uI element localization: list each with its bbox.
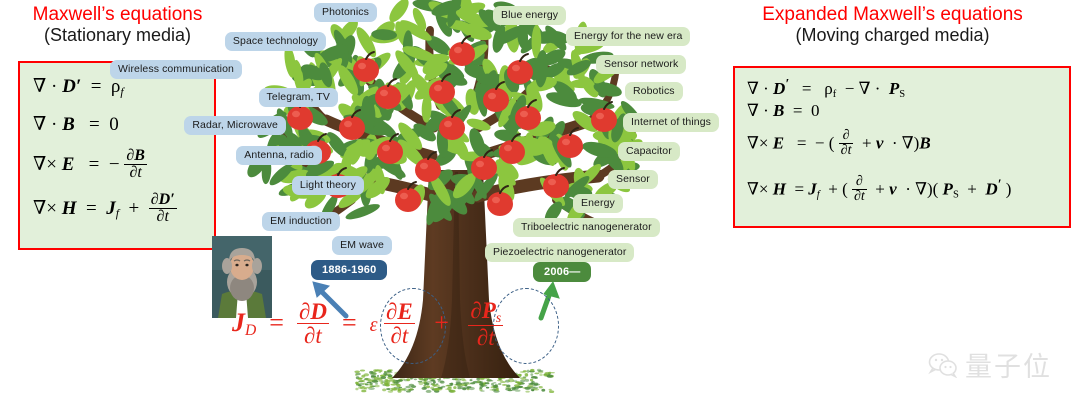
ground-leaf (382, 389, 386, 392)
ground-leaf (355, 388, 358, 391)
ground-leaf (527, 385, 533, 388)
ground-leaf (480, 386, 483, 389)
ground-leaf (534, 373, 539, 375)
right-label-robotics: Robotics (625, 82, 683, 101)
right-label-piezoelectric-nanogenerator: Piezoelectric nanogenerator (485, 243, 634, 262)
ground-leaf (514, 384, 520, 387)
ground-leaf (457, 384, 463, 387)
left-panel-heading: Maxwell’s equations (Stationary media) (5, 4, 230, 45)
ground-leaf (470, 379, 473, 381)
equation-gauss-electric: ∇ · D′ = ρf (33, 75, 124, 99)
equation-faraday-expanded: ∇× E = − ( ∂ ∂t + v · ∇)B (747, 130, 931, 159)
ground-leaf (426, 385, 430, 388)
ground-leaf (531, 389, 535, 391)
ground-leaf (396, 384, 400, 387)
diagram-canvas: Maxwell’s equations (Stationary media) ∇… (0, 0, 1080, 414)
ground-leaf (388, 369, 393, 371)
ground-leaf (440, 381, 445, 384)
stationary-media-equation-box: ∇ · D′ = ρf ∇ · B = 0 ∇× E = − ∂B ∂t ∇× … (18, 61, 216, 250)
ground-leaf (393, 382, 398, 384)
ground-leaf (388, 390, 393, 393)
left-label-em-wave: EM wave (332, 236, 392, 255)
ground-leaf (491, 386, 495, 388)
left-label-space-technology: Space technology (225, 32, 326, 51)
left-title-line1: Maxwell’s equations (5, 4, 230, 25)
apple (543, 168, 569, 198)
ground-leaf (452, 378, 456, 380)
ground-leaf (384, 371, 389, 373)
ground-leaf (375, 369, 381, 371)
ground-leaf (369, 371, 373, 374)
ground-leaf (422, 387, 427, 390)
right-label-energy: Energy (573, 194, 623, 213)
ground-leaf (405, 386, 411, 389)
right-label-energy-for-the-new-era: Energy for the new era (566, 27, 690, 46)
right-label-sensor: Sensor (608, 170, 658, 189)
ground-leaf (437, 379, 441, 380)
ground-leaf (355, 382, 358, 385)
ground-leaf (531, 376, 537, 379)
ground-leaf (533, 383, 538, 386)
left-label-light-theory: Light theory (292, 176, 364, 195)
ground-leaf (436, 384, 439, 385)
ground-leaf (378, 371, 381, 373)
ground-leaf (355, 374, 358, 376)
ground-leaf (541, 389, 545, 392)
apple (507, 54, 533, 84)
ground-leaf (430, 380, 435, 382)
ground-leaf (456, 381, 461, 383)
ground-leaf (525, 391, 529, 393)
ground-leaf (361, 390, 366, 393)
right-panel-heading: Expanded Maxwell’s equations (Moving cha… (715, 4, 1070, 45)
ground-leaf (478, 381, 483, 383)
watermark: 量子位 (928, 345, 1052, 384)
ground-leaf (524, 373, 528, 376)
right-label-blue-energy: Blue energy (493, 6, 566, 25)
equation-ampere-expanded: ∇× H = Jf + ( ∂ ∂t + v · ∇)( PS + D′ ) (747, 176, 1011, 205)
left-title-line2: (Stationary media) (5, 25, 230, 45)
ground-leaf (360, 386, 366, 389)
ground-leaf (497, 380, 503, 382)
ground-leaf (377, 375, 379, 377)
ground-leaf (390, 380, 395, 382)
equation-faraday: ∇× E = − ∂B ∂t (33, 149, 147, 182)
ground-leaf (359, 380, 365, 382)
ground-leaf (450, 390, 456, 393)
right-label-capacitor: Capacitor (618, 142, 680, 161)
ground-leaf (453, 386, 456, 389)
ground-leaf (397, 389, 401, 392)
left-label-em-induction: EM induction (262, 212, 340, 231)
ground-leaf (397, 380, 403, 382)
ground-leaf (375, 385, 380, 388)
ground-leaf (486, 379, 492, 382)
ground-leaf (410, 388, 413, 390)
ground-leaf (539, 374, 543, 376)
ground-leaf (530, 369, 534, 372)
ground-leaf (549, 389, 552, 391)
ground-leaf (495, 384, 498, 387)
ground-leaf (426, 381, 433, 383)
ground-leaf (549, 372, 552, 374)
ground-leaf (525, 379, 530, 382)
ground-leaf (366, 387, 370, 388)
ground-leaf (361, 375, 365, 378)
ground-leaf (371, 375, 376, 377)
ground-leaf (436, 385, 440, 387)
ground-leaf (507, 390, 512, 392)
ground-leaf (461, 387, 467, 390)
ground-leaf (386, 388, 391, 390)
ground-leaf (430, 387, 434, 390)
ground-leaf (432, 384, 435, 387)
ground-leaf (411, 385, 416, 388)
wechat-icon (928, 352, 958, 378)
right-label-internet-of-things: Internet of things (623, 113, 719, 132)
ground-leaf (375, 383, 378, 385)
ground-leaf (469, 387, 475, 390)
ground-leaf (358, 378, 362, 380)
eq-JD: J (232, 308, 245, 337)
ground-leaf (476, 378, 480, 381)
ground-leaf (419, 382, 424, 385)
ground-leaf (528, 383, 533, 385)
ground-leaf (384, 383, 390, 385)
ground-leaf (381, 376, 386, 379)
ground-leaf (496, 388, 499, 391)
ground-leaf (423, 379, 426, 381)
ground-leaf (520, 371, 526, 372)
ground-leaf (445, 388, 451, 390)
ground-leaf (465, 384, 468, 386)
ground-leaf (358, 385, 362, 387)
ground-leaf (463, 382, 469, 385)
ground-leaf (530, 379, 533, 382)
equation-ampere-maxwell: ∇× H = Jf + ∂D′ ∂t (33, 193, 177, 226)
ground-leaf (414, 378, 417, 380)
ground-leaf (363, 383, 366, 385)
left-label-photonics: Photonics (314, 3, 377, 22)
ground-leaf (539, 386, 543, 388)
ground-leaf (506, 385, 510, 388)
equation-gauss-magnetic-expanded: ∇ · B = 0 (747, 101, 819, 121)
left-label-antenna-radio: Antenna, radio (236, 146, 322, 165)
left-label-wireless-communication: Wireless communication (110, 60, 242, 79)
ground-leaf (515, 390, 521, 392)
bottom-equation: JD = ∂D ∂t = ε ∂E ∂t + ∂Ps ∂t (232, 300, 503, 350)
ground-leaf (380, 382, 383, 385)
ground-leaf (530, 373, 533, 376)
ground-leaf (498, 383, 501, 385)
equation-gauss-electric-expanded: ∇ · D′ = ρf − ∇ · PS (747, 76, 905, 100)
ground-leaf (508, 379, 514, 382)
ground-leaf (370, 386, 373, 388)
ground-leaf (470, 382, 475, 384)
ground-leaf (520, 380, 525, 382)
ground-leaf (388, 375, 393, 378)
watermark-text: 量子位 (965, 345, 1052, 384)
ground-leaf (372, 380, 378, 382)
ground-leaf (518, 374, 522, 377)
ground-leaf (500, 381, 506, 383)
ground-leaf (385, 374, 388, 377)
ground-leaf (493, 382, 496, 384)
equation-gauss-magnetic: ∇ · B = 0 (33, 113, 119, 136)
ground-leaf (441, 386, 445, 388)
left-label-radar-microwave: Radar, Microwave (184, 116, 286, 135)
ground-leaf (391, 388, 398, 390)
right-label-triboelectric-nanogenerator: Triboelectric nanogenerator (513, 218, 660, 237)
ground-leaf (406, 378, 410, 381)
right-title-line1: Expanded Maxwell’s equations (715, 4, 1070, 25)
maxwell-era-badge: 1886-1960 (311, 260, 387, 280)
right-title-line2: (Moving charged media) (715, 25, 1070, 45)
left-label-telegram-tv: Telegram, TV (259, 88, 338, 107)
moving-media-equation-box: ∇ · D′ = ρf − ∇ · PS ∇ · B = 0 ∇× E = − … (733, 66, 1071, 228)
ground-leaf (360, 370, 365, 372)
ground-leaf (486, 387, 489, 389)
ground-leaf (485, 382, 489, 384)
right-label-sensor-network: Sensor network (596, 55, 686, 74)
ground-leaf (457, 387, 461, 390)
ground-leaf (374, 377, 380, 380)
ground-leaf (448, 386, 452, 388)
ground-leaf (547, 375, 553, 378)
ground-leaf (436, 388, 443, 390)
ground-leaf (446, 385, 450, 387)
ground-leaf (538, 370, 544, 372)
ground-leaf (426, 390, 432, 393)
ground-leaf (449, 383, 452, 385)
nanogenerator-era-badge: 2006— (533, 262, 591, 282)
ground-leaf (354, 371, 360, 374)
ground-leaf (549, 390, 554, 393)
